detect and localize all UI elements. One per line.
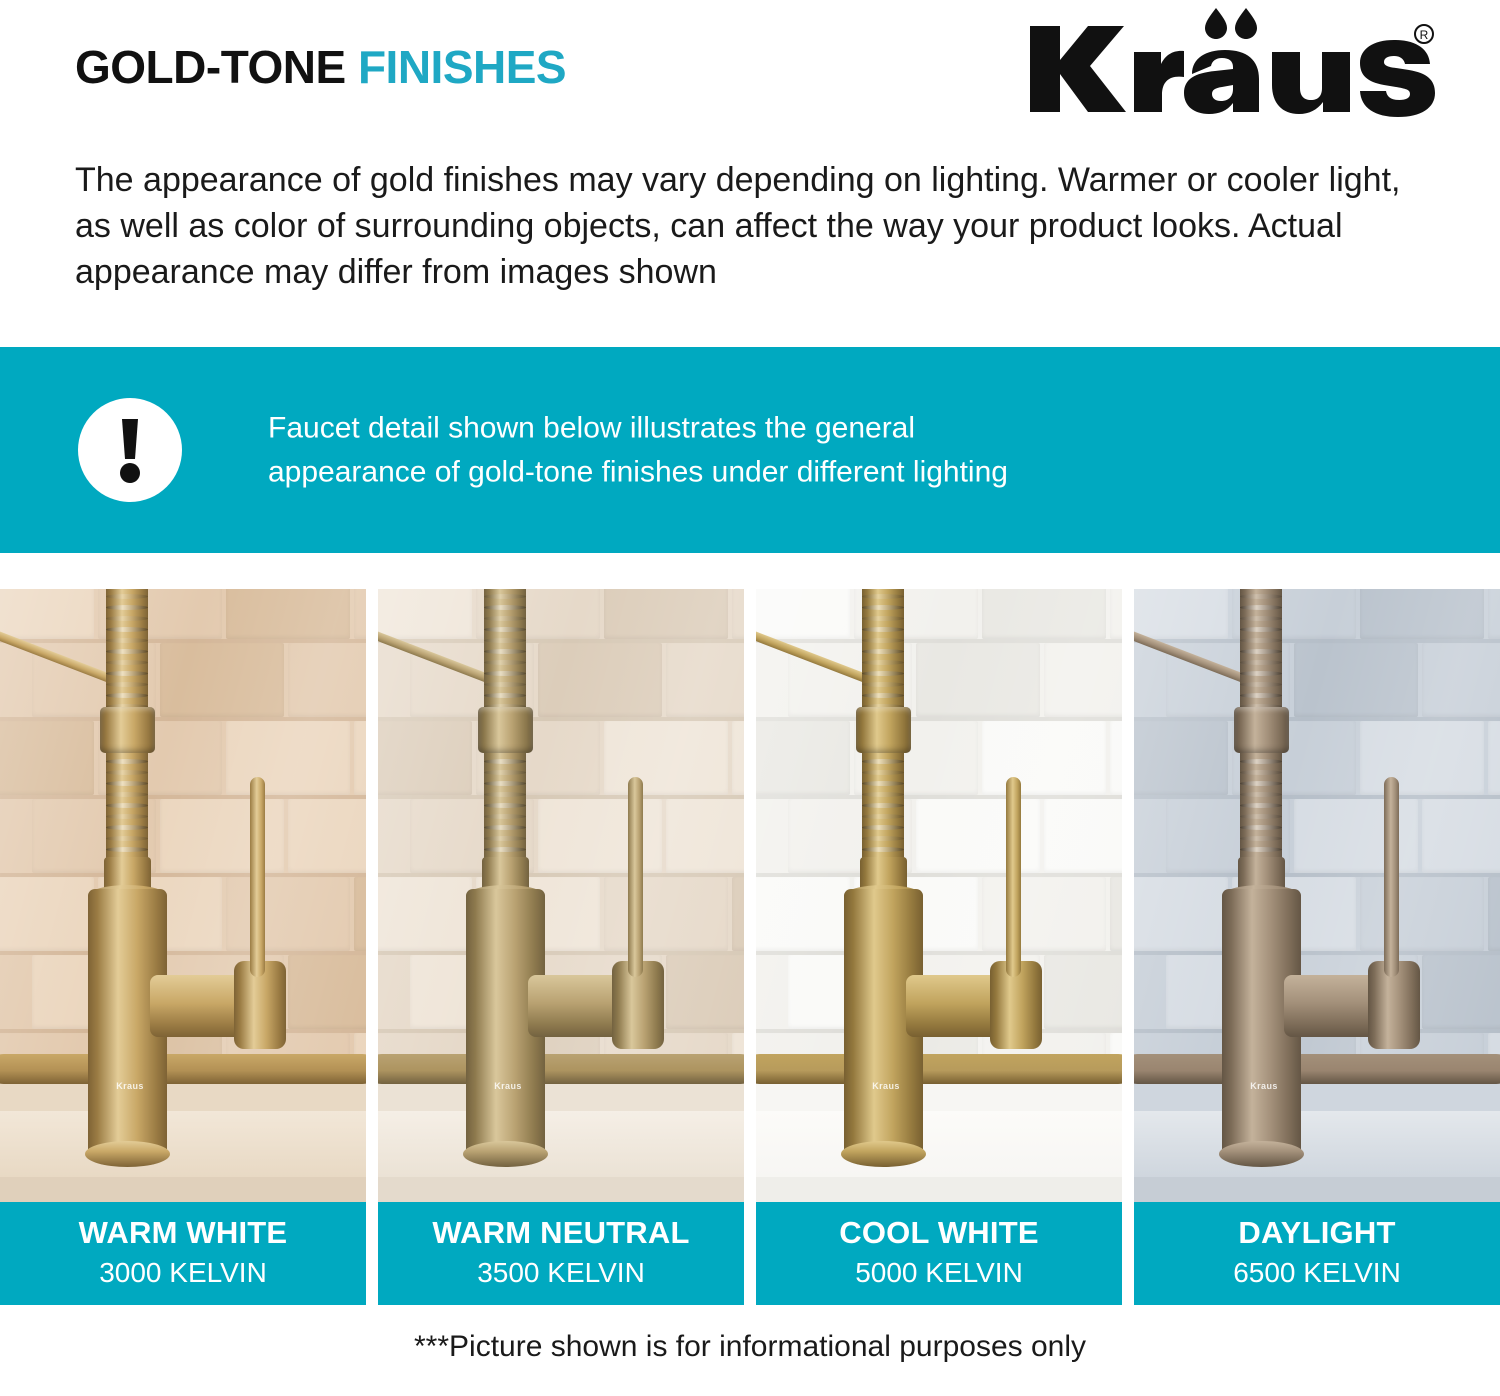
page-title-primary: GOLD-TONE <box>75 41 346 93</box>
notice-text: Faucet detail shown below illustrates th… <box>268 407 1418 494</box>
faucet-photo: Kraus <box>0 589 366 1202</box>
exclamation-icon <box>78 398 182 502</box>
faucet-photo: Kraus <box>756 589 1122 1202</box>
kitchen-faucet: Kraus <box>756 589 1122 1202</box>
faucet-brand-mark: Kraus <box>864 1081 908 1091</box>
finish-label-kelvin: 3000 KELVIN <box>99 1255 267 1290</box>
kraus-brand-logo: R <box>1020 4 1440 122</box>
notice-banner: Faucet detail shown below illustrates th… <box>0 347 1500 553</box>
faucet-base-ring <box>463 1141 548 1167</box>
faucet-collar <box>478 707 533 753</box>
finish-label: COOL WHITE5000 KELVIN <box>756 1202 1122 1305</box>
faucet-photo: Kraus <box>1134 589 1500 1202</box>
finish-label-name: COOL WHITE <box>839 1217 1038 1250</box>
faucet-lever-handle[interactable] <box>250 777 265 977</box>
finish-label-name: DAYLIGHT <box>1238 1217 1395 1250</box>
page-title-accent: FINISHES <box>358 41 566 93</box>
finish-label: WARM NEUTRAL3500 KELVIN <box>378 1202 744 1305</box>
faucet-brand-mark: Kraus <box>1242 1081 1286 1091</box>
finish-label-name: WARM NEUTRAL <box>432 1217 689 1250</box>
page-title: GOLD-TONE FINISHES <box>75 44 566 90</box>
faucet-lever-handle[interactable] <box>1384 777 1399 977</box>
faucet-base-ring <box>85 1141 170 1167</box>
finish-comparison-strip: KrausWARM WHITE3000 KELVINKrausWARM NEUT… <box>0 589 1500 1305</box>
finish-panel: KrausWARM NEUTRAL3500 KELVIN <box>378 589 744 1305</box>
faucet-brand-mark: Kraus <box>108 1081 152 1091</box>
finish-panel: KrausCOOL WHITE5000 KELVIN <box>756 589 1122 1305</box>
faucet-base-ring <box>1219 1141 1304 1167</box>
page-header: GOLD-TONE FINISHES R <box>0 0 1500 340</box>
faucet-brand-mark: Kraus <box>486 1081 530 1091</box>
faucet-collar <box>1234 707 1289 753</box>
faucet-photo: Kraus <box>378 589 744 1202</box>
kitchen-faucet: Kraus <box>1134 589 1500 1202</box>
finish-label-kelvin: 3500 KELVIN <box>477 1255 645 1290</box>
footer-disclaimer: ***Picture shown is for informational pu… <box>0 1330 1500 1364</box>
faucet-collar <box>100 707 155 753</box>
finish-label-name: WARM WHITE <box>79 1217 288 1250</box>
faucet-lever-handle[interactable] <box>1006 777 1021 977</box>
svg-text:R: R <box>1420 28 1429 42</box>
finish-label-kelvin: 5000 KELVIN <box>855 1255 1023 1290</box>
faucet-base-ring <box>841 1141 926 1167</box>
notice-line-2: appearance of gold-tone finishes under d… <box>268 450 1418 494</box>
kitchen-faucet: Kraus <box>378 589 744 1202</box>
faucet-collar <box>856 707 911 753</box>
intro-paragraph: The appearance of gold finishes may vary… <box>75 158 1445 296</box>
faucet-lever-handle[interactable] <box>628 777 643 977</box>
kitchen-faucet: Kraus <box>0 589 366 1202</box>
finish-label-kelvin: 6500 KELVIN <box>1233 1255 1401 1290</box>
finish-label: DAYLIGHT6500 KELVIN <box>1134 1202 1500 1305</box>
finish-label: WARM WHITE3000 KELVIN <box>0 1202 366 1305</box>
notice-line-1: Faucet detail shown below illustrates th… <box>268 407 1418 451</box>
finish-panel: KrausDAYLIGHT6500 KELVIN <box>1134 589 1500 1305</box>
finish-panel: KrausWARM WHITE3000 KELVIN <box>0 589 366 1305</box>
